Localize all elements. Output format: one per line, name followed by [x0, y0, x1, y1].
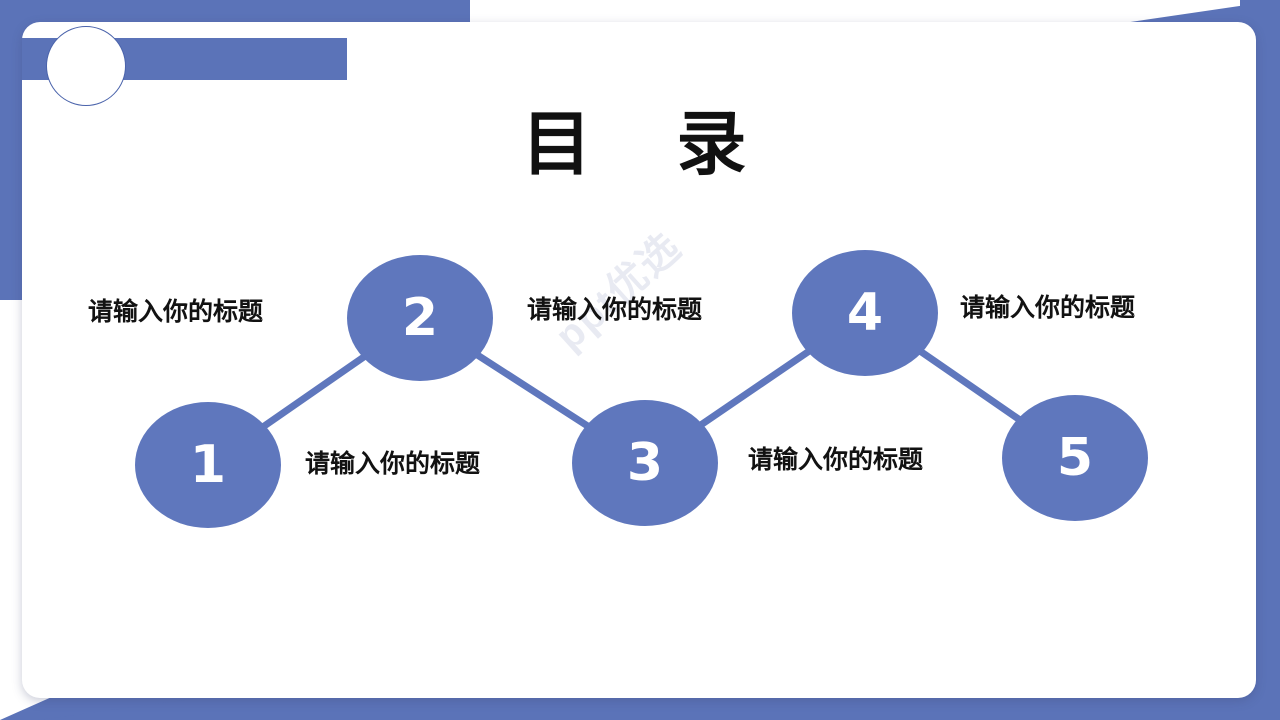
contents-node-2[interactable]: 2 [347, 255, 493, 381]
contents-node-4-number: 4 [847, 287, 883, 339]
contents-caption-5[interactable]: 请输入你的标题 [960, 288, 1135, 324]
contents-caption-1[interactable]: 请输入你的标题 [88, 292, 263, 328]
contents-caption-3[interactable]: 请输入你的标题 [527, 290, 702, 326]
contents-node-3[interactable]: 3 [572, 400, 718, 526]
contents-diagram: 1 2 3 4 5 请输入你的标题 请输入你的标题 请输入你的标题 请输入你的标… [0, 0, 1280, 720]
zigzag-connector-lines [0, 0, 1280, 720]
contents-node-4[interactable]: 4 [792, 250, 938, 376]
contents-node-2-number: 2 [402, 292, 438, 344]
contents-node-1-number: 1 [190, 439, 226, 491]
slide-canvas: 目 录 ppt优选 1 2 3 4 5 请输入你的标题 请输入你的标题 请输入你… [0, 0, 1280, 720]
contents-node-5-number: 5 [1057, 432, 1093, 484]
contents-node-5[interactable]: 5 [1002, 395, 1148, 521]
contents-caption-2[interactable]: 请输入你的标题 [305, 444, 480, 480]
contents-caption-4[interactable]: 请输入你的标题 [748, 440, 923, 476]
contents-node-3-number: 3 [627, 437, 663, 489]
contents-node-1[interactable]: 1 [135, 402, 281, 528]
